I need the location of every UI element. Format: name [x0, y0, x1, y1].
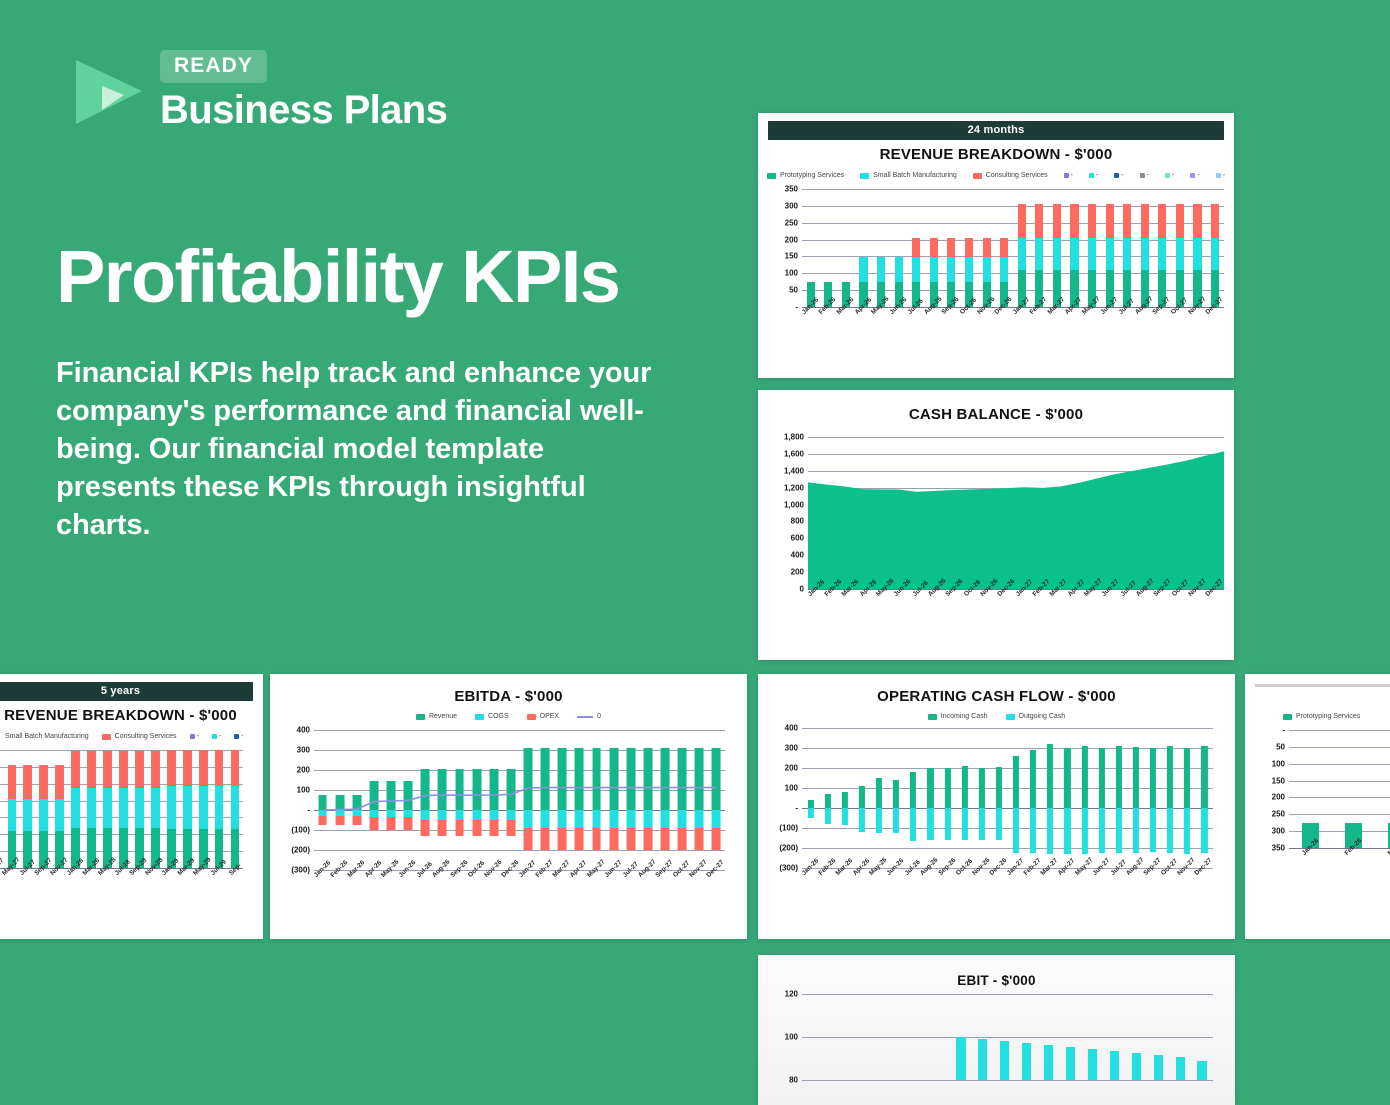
page-description: Financial KPIs help track and enhance yo…: [56, 355, 656, 545]
bar-column: [116, 750, 132, 868]
bar-column: [1332, 730, 1375, 848]
y-axis-tick: 1,000: [784, 500, 804, 509]
bar-column: [400, 730, 417, 870]
y-axis-tick: 200: [785, 235, 798, 244]
legend-label: Small Batch Manufacturing: [5, 733, 89, 740]
legend-label: COGS: [488, 713, 509, 720]
legend-item: -: [1190, 172, 1199, 179]
chart-title-ebitda: EBITDA - $'000: [280, 688, 737, 705]
bar-column: [1136, 189, 1154, 307]
bar-segment: [944, 808, 950, 840]
bar-segment: [895, 257, 903, 281]
bar-segment: [1193, 238, 1201, 270]
bar-column: [1103, 994, 1125, 1080]
bar-segment: [387, 810, 396, 817]
bar-segment: [1022, 1043, 1031, 1080]
bar-segment: [524, 828, 533, 850]
bar-segment: [643, 810, 652, 828]
bar-segment: [1197, 1061, 1206, 1080]
y-axis-tick: (200): [779, 844, 798, 853]
y-axis-tick: -: [795, 804, 798, 813]
chart-title-operating-cash-flow: OPERATING CASH FLOW - $'000: [768, 688, 1225, 705]
legend-item: -: [1114, 172, 1123, 179]
bar-segment: [318, 795, 327, 810]
bar-series: [802, 189, 1224, 307]
bar-segment: [87, 751, 96, 788]
y-axis-tick: 300: [785, 744, 798, 753]
bar-segment: [712, 828, 721, 850]
bar-segment: [678, 748, 687, 810]
bar-segment: [962, 766, 968, 808]
bar-segment: [404, 817, 413, 830]
bar-segment: [1106, 204, 1114, 238]
bar-segment: [1158, 238, 1166, 270]
bar-segment: [1167, 746, 1173, 808]
bar-segment: [506, 769, 515, 810]
legend-item: Revenue: [416, 713, 457, 720]
bar-column: [68, 750, 84, 868]
bar-segment: [626, 810, 635, 828]
chart-legend: RevenueCOGSOPEX0: [280, 713, 737, 720]
legend-item: 0: [577, 713, 601, 720]
bar-segment: [119, 788, 128, 828]
bar-segment: [930, 238, 938, 258]
bar-column: [1127, 728, 1144, 868]
bar-segment: [695, 748, 704, 810]
bar-column: [978, 189, 996, 307]
bar-segment: [859, 786, 865, 808]
plot-area: Mar-27May-27Jul-27Sep-27Nov-27Jan-28Mar-…: [0, 750, 243, 868]
y-axis-tick: 300: [1272, 827, 1285, 836]
y-axis-tick: 1,200: [784, 483, 804, 492]
bar-segment: [119, 751, 128, 788]
bar-segment: [996, 808, 1002, 840]
bar-column: [485, 730, 502, 870]
bar-segment: [231, 750, 240, 786]
bar-column: [943, 189, 961, 307]
bar-segment: [825, 808, 831, 824]
legend-label: Prototyping Services: [780, 172, 844, 179]
bar-segment: [1044, 1045, 1053, 1080]
bar-segment: [541, 828, 550, 850]
bar-column: [1179, 728, 1196, 868]
bar-segment: [965, 238, 973, 258]
bar-column: [1154, 189, 1172, 307]
legend-item: COGS: [475, 713, 509, 720]
chart-legend: Small Batch ManufacturingConsulting Serv…: [0, 733, 253, 740]
bar-segment: [609, 828, 618, 850]
bar-column: [434, 730, 451, 870]
legend-label: -: [241, 733, 243, 740]
bar-series: [1289, 730, 1390, 848]
x-axis: Jan-26Feb-26Mar-26Apr-26May-26Jun-26Jul-…: [802, 307, 1224, 341]
bar-column: [1118, 189, 1136, 307]
legend-swatch: [0, 734, 1, 740]
bar-segment: [1176, 1057, 1185, 1080]
bar-segment: [1167, 808, 1173, 853]
bar-segment: [807, 800, 813, 808]
y-axis-tick: 800: [791, 517, 804, 526]
bar-segment: [962, 808, 968, 840]
y-axis-tick: 0: [800, 585, 804, 594]
bar-column: [537, 730, 554, 870]
plot-area: 400300200100-(100)(200)(300)Jan-26Feb-26…: [314, 730, 725, 870]
bar-segment: [1116, 746, 1122, 808]
bar-column: [905, 728, 922, 868]
legend-swatch: [475, 714, 484, 720]
bar-segment: [506, 820, 515, 836]
bar-column: [872, 189, 890, 307]
legend-label: Consulting Services: [986, 172, 1048, 179]
legend-swatch: [1283, 714, 1292, 720]
chart-card-cash-balance[interactable]: CASH BALANCE - $'000 1,8001,6001,4001,20…: [758, 390, 1234, 660]
y-axis-tick: (300): [779, 864, 798, 873]
legend-swatch: [190, 734, 195, 739]
x-axis: Jan-26Feb-26Mar-26Apr-26May-26Jun-26Jul-…: [808, 589, 1224, 623]
bar-segment: [996, 767, 1002, 808]
chart-legend: Prototyping Services: [1255, 713, 1390, 720]
bar-segment: [1081, 808, 1087, 854]
bar-segment: [1176, 204, 1184, 238]
bar-column: [348, 730, 365, 870]
bar-segment: [541, 748, 550, 810]
bar-segment: [643, 748, 652, 810]
bar-segment: [335, 795, 344, 810]
bar-segment: [39, 765, 48, 799]
chart-card-operating-cash-flow[interactable]: OPERATING CASH FLOW - $'000 Incoming Cas…: [758, 674, 1235, 939]
bar-segment: [489, 810, 498, 820]
x-axis: Jan-26Feb-26Mar-26Apr-26May-26Jun-26Jul-…: [802, 868, 1213, 902]
legend-swatch: [577, 716, 593, 718]
bar-column: [1191, 994, 1213, 1080]
chart-title-cash-balance: CASH BALANCE - $'000: [768, 406, 1224, 423]
legend-item: Incoming Cash: [928, 713, 988, 720]
bar-column: [588, 730, 605, 870]
bar-segment: [1141, 238, 1149, 270]
bar-column: [622, 730, 639, 870]
bar-segment: [643, 828, 652, 850]
y-axis-tick: 50: [1276, 742, 1285, 751]
bar-column: [314, 730, 331, 870]
y-axis-tick: 200: [1272, 793, 1285, 802]
y-axis-tick: 200: [785, 764, 798, 773]
bar-segment: [199, 750, 208, 786]
bar-segment: [231, 786, 240, 829]
y-axis-tick: 100: [785, 269, 798, 278]
bar-column: [163, 750, 179, 868]
bar-column: [571, 730, 588, 870]
bar-segment: [947, 238, 955, 258]
plot-area: 35030025020015010050-Jan-26Feb-26Mar-26A…: [802, 189, 1224, 307]
bar-column: [853, 728, 870, 868]
bar-segment: [910, 808, 916, 841]
bar-segment: [876, 778, 882, 808]
bar-column: [417, 730, 434, 870]
bar-column: [922, 728, 939, 868]
y-axis-tick: (100): [291, 826, 310, 835]
y-axis-tick: 100: [297, 786, 310, 795]
legend-swatch: [1064, 173, 1069, 178]
bar-segment: [695, 828, 704, 850]
bar-segment: [183, 786, 192, 829]
bar-column: [1060, 994, 1082, 1080]
bar-segment: [8, 765, 17, 799]
bar-segment: [1133, 747, 1139, 808]
play-triangle-icon: [72, 58, 146, 126]
y-axis-tick: 300: [297, 746, 310, 755]
bar-segment: [135, 788, 144, 828]
bar-segment: [1053, 238, 1061, 270]
bar-segment: [404, 781, 413, 810]
legend-swatch: [212, 734, 217, 739]
legend-item: -: [1165, 172, 1174, 179]
bar-column: [1101, 189, 1119, 307]
bar-segment: [524, 810, 533, 828]
y-axis-tick: (300): [291, 866, 310, 875]
y-axis-tick: 50: [789, 286, 798, 295]
bar-column: [802, 728, 819, 868]
bar-segment: [1088, 204, 1096, 238]
bar-segment: [930, 257, 938, 281]
bar-column: [131, 750, 147, 868]
bar-segment: [1211, 238, 1219, 270]
bar-column: [990, 728, 1007, 868]
bar-segment: [1053, 204, 1061, 238]
bar-segment: [1088, 238, 1096, 270]
bar-column: [36, 750, 52, 868]
bar-segment: [842, 792, 848, 808]
y-axis-tick: 600: [791, 534, 804, 543]
bar-segment: [1133, 808, 1139, 853]
bar-segment: [1184, 748, 1190, 808]
bar-segment: [1123, 204, 1131, 238]
bar-segment: [983, 238, 991, 258]
bar-column: [939, 728, 956, 868]
bar-segment: [965, 257, 973, 281]
bar-segment: [335, 816, 344, 825]
bar-column: [972, 994, 994, 1080]
bar-segment: [910, 772, 916, 808]
bar-segment: [438, 769, 447, 810]
bar-segment: [927, 808, 933, 840]
bar-segment: [1047, 808, 1053, 854]
bar-column: [1008, 728, 1025, 868]
bar-segment: [979, 808, 985, 840]
ready-badge: READY: [160, 50, 267, 83]
y-axis-tick: 350: [1272, 844, 1285, 853]
bar-segment: [438, 820, 447, 836]
chart-title-revenue-breakdown-5y: REVENUE BREAKDOWN - $'000: [0, 707, 253, 724]
bar-column: [1038, 994, 1060, 1080]
bar-segment: [87, 788, 96, 828]
y-axis-tick: 150: [1272, 776, 1285, 785]
bar-segment: [1110, 1051, 1119, 1080]
bar-column: [52, 750, 68, 868]
band-label-5-years: 5 years: [0, 682, 253, 701]
bar-segment: [55, 799, 64, 831]
bar-segment: [167, 750, 176, 786]
bar-segment: [1158, 204, 1166, 238]
bar-column: [1110, 728, 1127, 868]
legend-label: Consulting Services: [115, 733, 177, 740]
bar-column: [1081, 994, 1103, 1080]
bar-segment: [807, 808, 813, 818]
bar-column: [520, 730, 537, 870]
bar-column: [836, 728, 853, 868]
legend-swatch: [527, 714, 536, 720]
bar-column: [907, 189, 925, 307]
legend-swatch: [1089, 173, 1094, 178]
bar-segment: [151, 751, 160, 788]
bar-column: [365, 730, 382, 870]
bar-series: [802, 728, 1213, 868]
bar-segment: [506, 810, 515, 820]
bar-segment: [1176, 238, 1184, 270]
bar-column: [1076, 728, 1093, 868]
y-axis-tick: 300: [785, 201, 798, 210]
bar-segment: [1047, 744, 1053, 808]
bar-segment: [1088, 1049, 1097, 1080]
legend-label: Incoming Cash: [941, 713, 988, 720]
bar-segment: [712, 748, 721, 810]
bar-segment: [352, 795, 361, 810]
bar-segment: [1211, 204, 1219, 238]
bar-segment: [472, 820, 481, 836]
bar-segment: [421, 820, 430, 836]
bar-segment: [1141, 204, 1149, 238]
y-axis-tick: -: [795, 303, 798, 312]
bar-column: [1171, 189, 1189, 307]
y-axis-tick: 400: [785, 724, 798, 733]
bar-segment: [438, 810, 447, 820]
plot-area: 1,8001,6001,4001,2001,0008006004002000Ja…: [808, 437, 1224, 589]
bar-column: [147, 750, 163, 868]
legend-swatch: [102, 734, 111, 740]
bar-column: [1013, 189, 1031, 307]
legend-swatch: [1114, 173, 1119, 178]
legend-item: -: [190, 733, 199, 740]
bar-segment: [23, 765, 32, 799]
bar-column: [502, 730, 519, 870]
bar-segment: [842, 808, 848, 825]
chart-card-revenue-breakdown-partial[interactable]: Prototyping Services -501001502002503003…: [1245, 674, 1390, 939]
bar-segment: [558, 748, 567, 810]
legend-item: OPEX: [527, 713, 559, 720]
bar-column: [383, 730, 400, 870]
band-label-24-months: 24 months: [768, 121, 1224, 140]
y-axis-tick: 100: [785, 1033, 798, 1042]
bar-segment: [215, 750, 224, 786]
bar-segment: [71, 788, 80, 828]
y-axis-tick: 150: [785, 252, 798, 261]
legend-label: -: [1096, 172, 1098, 179]
chart-card-ebitda[interactable]: EBITDA - $'000 RevenueCOGSOPEX0 40030020…: [270, 674, 747, 939]
y-axis-tick: 350: [785, 185, 798, 194]
y-axis-tick: 250: [785, 218, 798, 227]
chart-title-revenue-breakdown: REVENUE BREAKDOWN - $'000: [768, 146, 1224, 163]
bar-column: [100, 750, 116, 868]
y-axis-tick: (100): [779, 824, 798, 833]
bar-column: [1375, 730, 1390, 848]
bar-segment: [1201, 808, 1207, 853]
bar-column: [227, 750, 243, 868]
bar-column: [468, 730, 485, 870]
area-series: [808, 437, 1224, 589]
bar-segment: [421, 810, 430, 820]
y-axis-tick: 250: [1272, 810, 1285, 819]
bar-segment: [978, 1039, 987, 1080]
brand-name: Business Plans: [160, 90, 447, 130]
bar-column: [1125, 994, 1147, 1080]
bar-column: [1016, 994, 1038, 1080]
bar-segment: [524, 748, 533, 810]
legend-item: -: [1064, 172, 1073, 179]
plot-area: 12010080: [802, 994, 1213, 1080]
bar-segment: [859, 257, 867, 281]
bar-column: [871, 728, 888, 868]
legend-item: -: [1089, 172, 1098, 179]
bar-segment: [103, 788, 112, 828]
y-axis-tick: 400: [791, 551, 804, 560]
chart-card-revenue-breakdown-24m[interactable]: 24 months REVENUE BREAKDOWN - $'000 Prot…: [758, 113, 1234, 378]
bar-segment: [1070, 204, 1078, 238]
bar-column: [1169, 994, 1191, 1080]
chart-title-ebit: EBIT - $'000: [768, 973, 1225, 988]
bar-segment: [39, 799, 48, 831]
bar-column: [837, 189, 855, 307]
bar-segment: [472, 810, 481, 820]
bar-segment: [167, 786, 176, 829]
bar-segment: [678, 828, 687, 850]
bar-segment: [387, 817, 396, 830]
bar-segment: [1030, 750, 1036, 808]
legend-swatch: [234, 734, 239, 739]
chart-legend: Incoming CashOutgoing Cash: [768, 713, 1225, 720]
bar-column: [1289, 730, 1332, 848]
bar-segment: [455, 820, 464, 836]
bar-segment: [825, 794, 831, 808]
bar-segment: [712, 810, 721, 828]
legend-item: Prototyping Services: [1283, 713, 1360, 720]
bar-column: [1189, 189, 1207, 307]
bar-column: [451, 730, 468, 870]
bar-column: [84, 750, 100, 868]
legend-item: Prototyping Services: [767, 172, 844, 179]
bar-segment: [489, 769, 498, 810]
bar-segment: [1013, 808, 1019, 853]
bar-segment: [215, 786, 224, 829]
bar-segment: [1064, 748, 1070, 808]
bar-column: [1083, 189, 1101, 307]
chart-card-ebit[interactable]: EBIT - $'000 12010080: [758, 955, 1235, 1105]
legend-label: Outgoing Cash: [1019, 713, 1066, 720]
bar-segment: [558, 828, 567, 850]
legend-swatch: [1216, 173, 1221, 178]
bar-segment: [592, 828, 601, 850]
bar-segment: [1106, 238, 1114, 270]
legend-item: Small Batch Manufacturing: [860, 172, 957, 179]
bar-segment: [592, 748, 601, 810]
bar-column: [211, 750, 227, 868]
x-axis: Jan-26Feb-26Mar-26Apr-26May-: [1289, 848, 1390, 882]
bar-series: [950, 994, 1213, 1080]
chart-card-revenue-breakdown-5y[interactable]: 5 years REVENUE BREAKDOWN - $'000 Small …: [0, 674, 263, 939]
bar-column: [1048, 189, 1066, 307]
legend-swatch: [767, 173, 776, 179]
y-axis-tick: 1,800: [784, 433, 804, 442]
bar-segment: [1064, 808, 1070, 854]
y-axis-tick: 120: [785, 990, 798, 999]
